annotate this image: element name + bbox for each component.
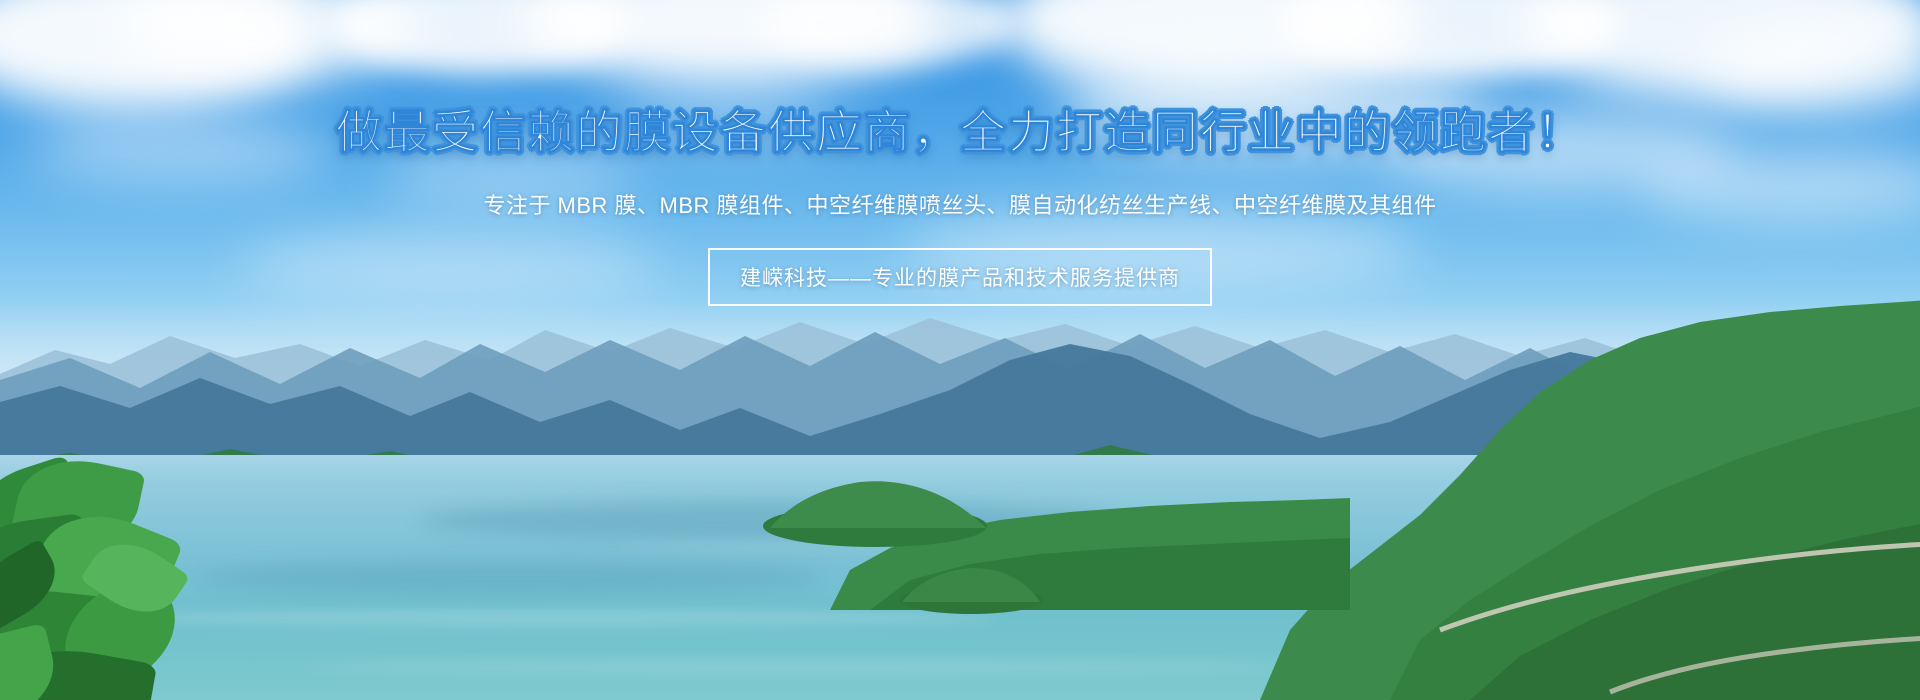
banner-subtitle: 专注于 MBR 膜、MBR 膜组件、中空纤维膜喷丝头、膜自动化纺丝生产线、中空纤…: [483, 188, 1436, 220]
foreground-tree: [0, 460, 200, 700]
banner-tagline-box: 建嵘科技——专业的膜产品和技术服务提供商: [708, 248, 1212, 306]
water-highlight: [100, 610, 1000, 626]
island-small: [896, 560, 1046, 614]
island-large: [760, 470, 990, 548]
cloud: [240, 230, 660, 300]
cloud: [30, 120, 330, 180]
banner-headline: 做最受信赖的膜设备供应商，全力打造同行业中的领跑者！: [336, 96, 1584, 162]
hero-banner: 做最受信赖的膜设备供应商，全力打造同行业中的领跑者！ 专注于 MBR 膜、MBR…: [0, 0, 1920, 700]
water-shadow: [200, 560, 820, 594]
